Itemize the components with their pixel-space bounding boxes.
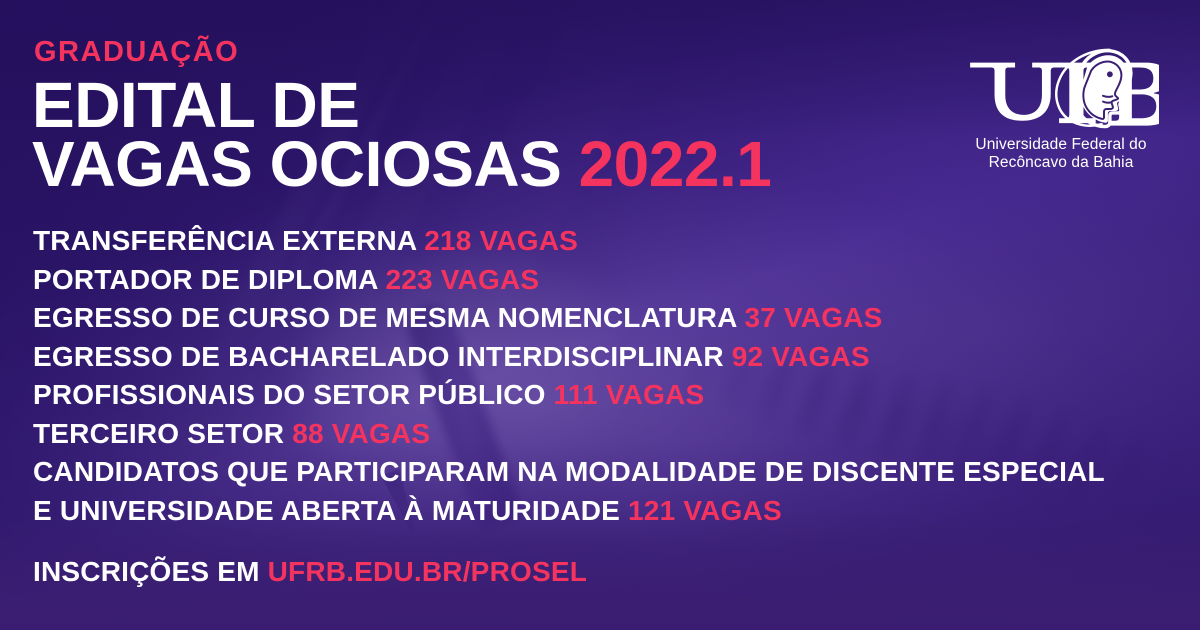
vacancy-count: 111 VAGAS xyxy=(554,379,705,410)
list-item: TERCEIRO SETOR 88 VAGAS xyxy=(33,415,1173,454)
vacancy-label: TERCEIRO SETOR xyxy=(33,418,284,449)
logo-subtitle-line-1: Universidade Federal do xyxy=(950,136,1172,154)
vacancy-label: EGRESSO DE BACHARELADO INTERDISCIPLINAR xyxy=(33,341,724,372)
cta-prefix: INSCRIÇÕES EM xyxy=(33,556,260,587)
headline-line-1: EDITAL DE xyxy=(32,76,771,135)
logo-subtitle-line-2: Recôncavo da Bahia xyxy=(950,154,1172,172)
poster: GRADUAÇÃO EDITAL DE VAGAS OCIOSAS 2022.1… xyxy=(0,0,1200,630)
list-item: EGRESSO DE CURSO DE MESMA NOMENCLATURA 3… xyxy=(33,299,1173,338)
vacancy-count: 92 VAGAS xyxy=(732,341,870,372)
headline-line-2-text: VAGAS OCIOSAS xyxy=(32,128,561,200)
vacancy-label: EGRESSO DE CURSO DE MESMA NOMENCLATURA xyxy=(33,302,737,333)
vacancy-label: TRANSFERÊNCIA EXTERNA xyxy=(33,225,416,256)
ufrb-face-profile-logo xyxy=(963,44,1159,130)
headline-year: 2022.1 xyxy=(579,128,772,200)
list-item: E UNIVERSIDADE ABERTA À MATURIDADE 121 V… xyxy=(33,492,1173,531)
cta-url[interactable]: UFRB.EDU.BR/PROSEL xyxy=(268,556,587,587)
vacancy-label: PORTADOR DE DIPLOMA xyxy=(33,264,377,295)
logo-subtitle: Universidade Federal do Recôncavo da Bah… xyxy=(950,136,1172,173)
vacancy-label: CANDIDATOS QUE PARTICIPARAM NA MODALIDAD… xyxy=(33,456,1105,487)
vacancy-count: 218 VAGAS xyxy=(424,225,578,256)
poster-content: GRADUAÇÃO EDITAL DE VAGAS OCIOSAS 2022.1… xyxy=(0,0,1200,630)
call-to-action[interactable]: INSCRIÇÕES EM UFRB.EDU.BR/PROSEL xyxy=(33,558,587,586)
vacancy-label: E UNIVERSIDADE ABERTA À MATURIDADE xyxy=(33,495,620,526)
vacancy-count: 37 VAGAS xyxy=(744,302,882,333)
list-item: PORTADOR DE DIPLOMA 223 VAGAS xyxy=(33,261,1173,300)
vacancy-count: 223 VAGAS xyxy=(385,264,539,295)
headline-line-2: VAGAS OCIOSAS 2022.1 xyxy=(32,135,771,194)
page-title: EDITAL DE VAGAS OCIOSAS 2022.1 xyxy=(32,76,771,194)
vacancy-label: PROFISSIONAIS DO SETOR PÚBLICO xyxy=(33,379,546,410)
list-item: PROFISSIONAIS DO SETOR PÚBLICO 111 VAGAS xyxy=(33,376,1173,415)
list-item: EGRESSO DE BACHARELADO INTERDISCIPLINAR … xyxy=(33,338,1173,377)
eyebrow-label: GRADUAÇÃO xyxy=(34,38,239,67)
vacancy-count: 121 VAGAS xyxy=(628,495,782,526)
vacancy-count: 88 VAGAS xyxy=(292,418,430,449)
list-item: CANDIDATOS QUE PARTICIPARAM NA MODALIDAD… xyxy=(33,453,1173,492)
ufrb-logo: Universidade Federal do Recôncavo da Bah… xyxy=(950,44,1172,173)
vacancy-list: TRANSFERÊNCIA EXTERNA 218 VAGAS PORTADOR… xyxy=(33,222,1173,530)
list-item: TRANSFERÊNCIA EXTERNA 218 VAGAS xyxy=(33,222,1173,261)
